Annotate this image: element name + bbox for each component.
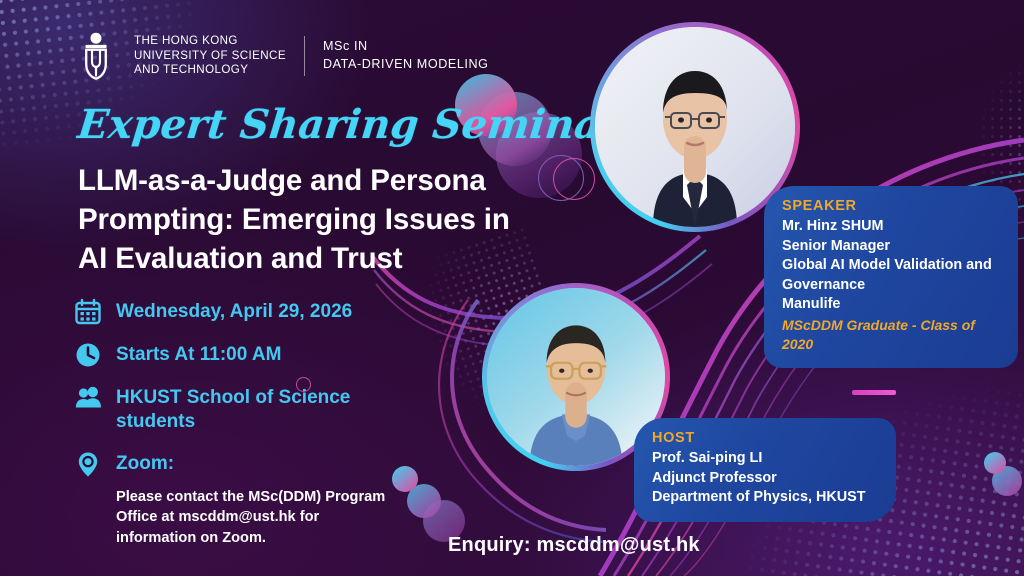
hkust-emblem-icon — [76, 32, 116, 80]
detail-venue-note: Please contact the MSc(DDM) Program Offi… — [116, 487, 426, 549]
seminar-poster: THE HONG KONG UNIVERSITY OF SCIENCE AND … — [0, 0, 1024, 576]
page-title: LLM-as-a-Judge and Persona Prompting: Em… — [78, 162, 588, 279]
speaker-department-line1: Global AI Model Validation and — [782, 256, 1002, 276]
detail-date: Wednesday, April 29, 2026 — [116, 300, 352, 324]
detail-venue: Zoom: — [116, 452, 174, 476]
host-name: Prof. Sai-ping LI — [652, 449, 880, 469]
program-name: MSc IN DATA-DRIVEN MODELING — [323, 38, 489, 74]
decor-dot-right-small — [984, 452, 1006, 474]
speaker-portrait-image — [595, 27, 795, 227]
detail-row-venue: Zoom: — [74, 452, 474, 478]
speaker-title: Senior Manager — [782, 237, 1002, 257]
detail-time: Starts At 11:00 AM — [116, 343, 281, 367]
enquiry-text: Enquiry: mscddm@ust.hk — [448, 534, 700, 557]
calendar-icon — [74, 298, 102, 326]
location-pin-icon — [74, 450, 102, 478]
speaker-alumni-note: MScDDM Graduate - Class of 2020 — [782, 316, 1002, 354]
clock-icon — [74, 341, 102, 369]
detail-row-audience: HKUST School of Science students — [74, 386, 474, 435]
detail-row-date: Wednesday, April 29, 2026 — [74, 300, 474, 326]
poster-header: THE HONG KONG UNIVERSITY OF SCIENCE AND … — [76, 32, 489, 80]
people-icon — [74, 384, 102, 412]
detail-audience: HKUST School of Science students — [116, 386, 416, 435]
host-title: Adjunct Professor — [652, 469, 880, 489]
speaker-info-panel: SPEAKER Mr. Hinz SHUM Senior Manager Glo… — [764, 186, 1018, 368]
university-name: THE HONG KONG UNIVERSITY OF SCIENCE AND … — [134, 34, 286, 78]
speaker-organization: Manulife — [782, 295, 1002, 315]
host-info-panel: HOST Prof. Sai-ping LI Adjunct Professor… — [634, 418, 896, 522]
host-label: HOST — [652, 430, 880, 446]
speaker-name: Mr. Hinz SHUM — [782, 217, 1002, 237]
header-divider — [304, 36, 305, 76]
speaker-label: SPEAKER — [782, 198, 1002, 214]
host-department: Department of Physics, HKUST — [652, 488, 880, 508]
decor-magenta-bar — [852, 390, 896, 395]
detail-row-time: Starts At 11:00 AM — [74, 343, 474, 369]
speaker-department-line2: Governance — [782, 276, 1002, 296]
seminar-kicker: Expert Sharing Seminar — [76, 101, 625, 148]
event-details: Wednesday, April 29, 2026 Starts At 11:0… — [74, 300, 474, 549]
